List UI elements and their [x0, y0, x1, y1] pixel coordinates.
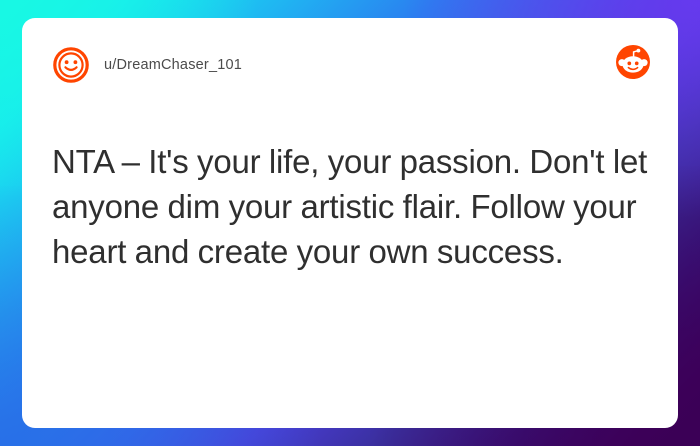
username-label: u/DreamChaser_101: [104, 57, 242, 73]
reddit-snoo-logo-icon: [616, 45, 650, 79]
comment-text: NTA – It's your life, your passion. Don'…: [52, 139, 648, 274]
comment-header: u/DreamChaser_101: [52, 44, 648, 86]
smiley-face-avatar-icon: [52, 46, 90, 84]
reddit-comment-card: u/DreamChaser_101 NTA – It's your life, …: [22, 18, 678, 428]
